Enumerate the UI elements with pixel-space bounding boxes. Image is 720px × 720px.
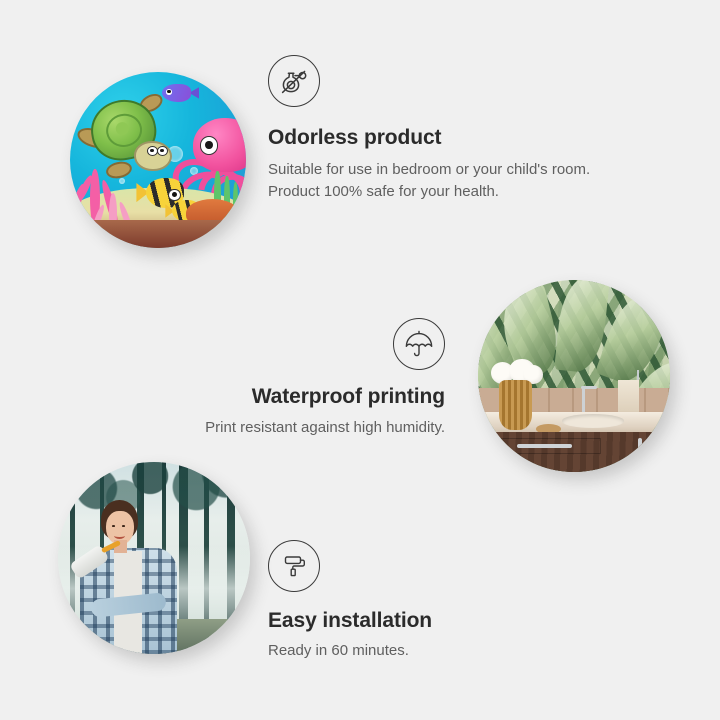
icon-wrapper [140, 318, 445, 370]
sea-floor [70, 220, 246, 248]
feature-waterproof: Waterproof printing Print resistant agai… [140, 318, 445, 439]
vanity-cabinet [490, 432, 670, 472]
feature-installation: Easy installation Ready in 60 minutes. [268, 540, 598, 662]
feature-title: Odorless product [268, 125, 608, 150]
sink-basin [562, 414, 623, 427]
photo-underwater-scene [70, 72, 246, 248]
photo-forest-mural [58, 462, 250, 654]
feature-title: Easy installation [268, 608, 598, 633]
umbrella-icon [393, 318, 445, 370]
feature-description: Print resistant against high humidity. [140, 417, 445, 439]
paint-roller-icon [268, 540, 320, 592]
sea-turtle-icon [84, 97, 168, 174]
feature-title: Waterproof printing [140, 384, 445, 409]
gold-vase [499, 380, 532, 430]
feature-description: Ready in 60 minutes. [268, 640, 598, 662]
no-odor-spray-bottle-icon [268, 55, 320, 107]
feature-odorless: Odorless product Suitable for use in bed… [268, 55, 608, 203]
feature-highlights-page: Odorless product Suitable for use in bed… [0, 0, 720, 720]
woman-with-paint-roller [73, 500, 181, 654]
photo-bathroom-wallpaper [478, 280, 670, 472]
feature-description: Suitable for use in bedroom or your chil… [268, 159, 608, 203]
